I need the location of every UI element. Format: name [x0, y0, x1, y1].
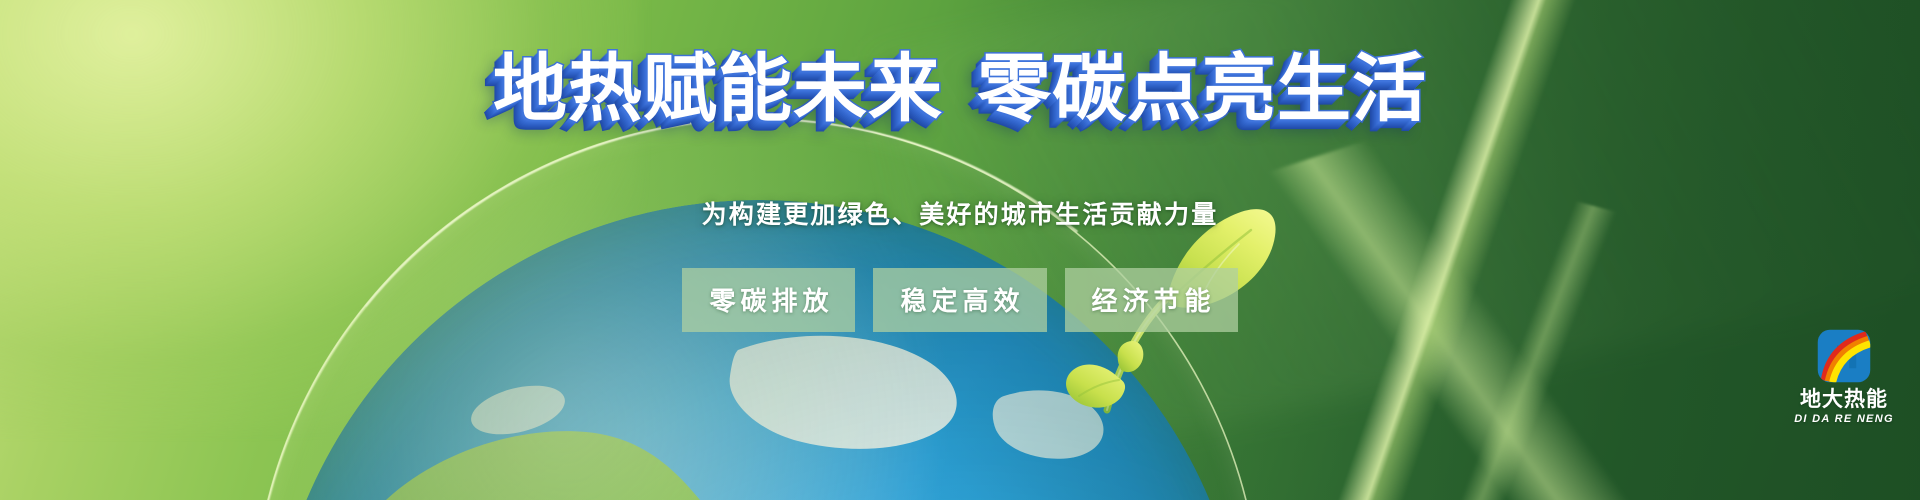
- logo-name-en: DI DA RE NENG: [1788, 414, 1900, 425]
- feature-tag-list: 零碳排放 稳定高效 经济节能: [0, 268, 1920, 332]
- feature-tag-stable-efficient[interactable]: 稳定高效: [873, 268, 1046, 332]
- headline-phrase-right: 零碳点亮生活: [977, 47, 1427, 130]
- headline-phrase-left: 地热赋能未来: [493, 47, 943, 130]
- rainbow-arc-square-logo-icon: [1816, 328, 1872, 384]
- hero-banner: 地热赋能未来零碳点亮生活 为构建更加绿色、美好的城市生活贡献力量 零碳排放 稳定…: [0, 0, 1920, 500]
- page-title: 地热赋能未来零碳点亮生活: [0, 52, 1920, 126]
- banner-subtitle: 为构建更加绿色、美好的城市生活贡献力量: [0, 200, 1920, 230]
- logo-name-cn: 地大热能: [1788, 389, 1900, 410]
- brand-logo[interactable]: 地大热能 DI DA RE NENG: [1788, 328, 1900, 425]
- feature-tag-economical[interactable]: 经济节能: [1065, 268, 1238, 332]
- feature-tag-zero-carbon[interactable]: 零碳排放: [682, 268, 855, 332]
- banner-content: 地热赋能未来零碳点亮生活 为构建更加绿色、美好的城市生活贡献力量 零碳排放 稳定…: [0, 0, 1920, 500]
